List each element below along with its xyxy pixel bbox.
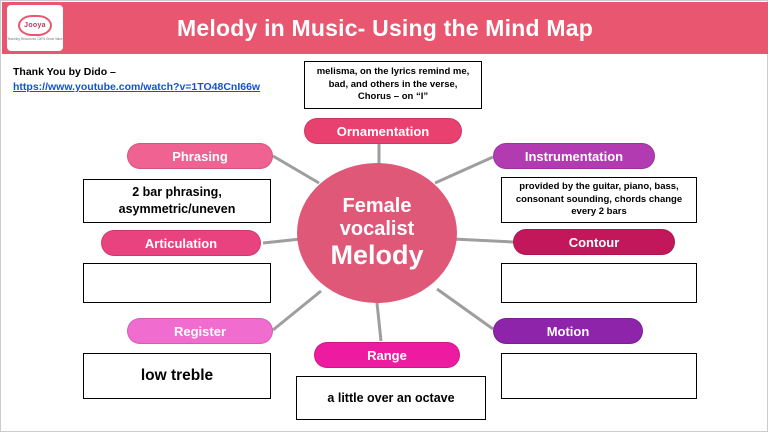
answer-text: melisma, on the lyrics remind me, bad, a… bbox=[311, 66, 475, 103]
node-contour[interactable]: Contour bbox=[513, 229, 675, 255]
node-articulation[interactable]: Articulation bbox=[101, 230, 261, 256]
answer-box-ornamentation[interactable]: melisma, on the lyrics remind me, bad, a… bbox=[304, 61, 482, 109]
answer-box-motion[interactable] bbox=[501, 353, 697, 399]
node-label: Articulation bbox=[145, 236, 217, 251]
answer-box-range[interactable]: a little over an octave bbox=[296, 376, 486, 420]
answer-box-phrasing[interactable]: 2 bar phrasing, asymmetric/uneven bbox=[83, 179, 271, 223]
node-instrumentation[interactable]: Instrumentation bbox=[493, 143, 655, 169]
node-label: Phrasing bbox=[172, 149, 228, 164]
node-phrasing[interactable]: Phrasing bbox=[127, 143, 273, 169]
node-label: Contour bbox=[569, 235, 620, 250]
center-node: Female vocalist Melody bbox=[297, 163, 457, 303]
answer-text: provided by the guitar, piano, bass, con… bbox=[508, 181, 690, 218]
node-label: Motion bbox=[547, 324, 590, 339]
slide-canvas: Melody in Music- Using the Mind Map Jooy… bbox=[0, 0, 768, 432]
answer-text: 2 bar phrasing, asymmetric/uneven bbox=[90, 184, 264, 218]
answer-text: a little over an octave bbox=[327, 390, 454, 407]
center-line-2: vocalist bbox=[340, 218, 414, 240]
answer-box-contour[interactable] bbox=[501, 263, 697, 303]
node-ornamentation[interactable]: Ornamentation bbox=[304, 118, 462, 144]
node-label: Range bbox=[367, 348, 407, 363]
center-line-1: Female bbox=[343, 195, 412, 217]
answer-box-articulation[interactable] bbox=[83, 263, 271, 303]
node-label: Ornamentation bbox=[337, 124, 429, 139]
node-label: Instrumentation bbox=[525, 149, 623, 164]
answer-box-instrumentation[interactable]: provided by the guitar, piano, bass, con… bbox=[501, 177, 697, 223]
node-label: Register bbox=[174, 324, 226, 339]
node-range[interactable]: Range bbox=[314, 342, 460, 368]
node-register[interactable]: Register bbox=[127, 318, 273, 344]
center-line-3: Melody bbox=[330, 241, 423, 271]
answer-text: low treble bbox=[141, 366, 213, 386]
node-motion[interactable]: Motion bbox=[493, 318, 643, 344]
answer-box-register[interactable]: low treble bbox=[83, 353, 271, 399]
